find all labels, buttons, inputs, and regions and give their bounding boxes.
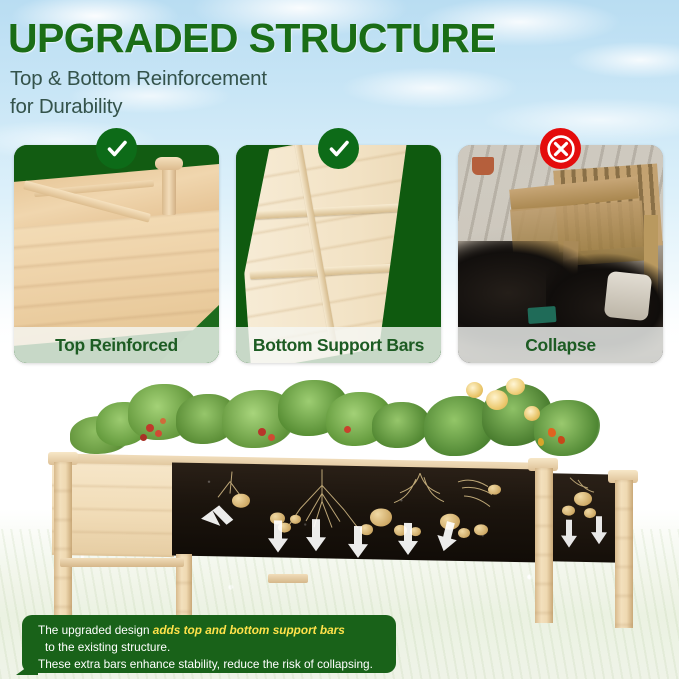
check-icon [96,128,137,169]
card-label-strip: Collapse [458,327,663,363]
subtitle-line-1: Top & Bottom Reinforcement [0,59,679,93]
banner-line-2: to the existing structure. [38,639,382,656]
check-icon [318,128,359,169]
planter-leg [535,468,553,623]
subtitle-line-2: for Durability [0,93,679,121]
card-label-text: Top Reinforced [55,335,178,356]
info-banner: The upgraded design adds top and bottom … [22,615,396,673]
cross-icon [540,128,581,169]
cross-brace [60,558,184,567]
cross-brace [268,574,308,583]
down-arrows-icon [172,462,542,562]
planter-leg [54,462,72,622]
soil-cross-section-right [550,473,622,562]
card-top-reinforced: Top Reinforced [14,145,219,363]
card-collapse: Collapse [458,145,663,363]
banner-line-1-highlight: adds top and bottom support bars [153,623,345,637]
planter-leg [615,480,633,628]
banner-line-1: The upgraded design adds top and bottom … [38,622,382,639]
soil-cross-section [172,462,542,562]
raised-garden-bed [52,442,630,622]
banner-line-1-prefix: The upgraded design [38,623,153,637]
card-label-strip: Top Reinforced [14,327,219,363]
banner-line-3: These extra bars enhance stability, redu… [38,656,382,673]
page-title: UPGRADED STRUCTURE [0,0,679,59]
header: UPGRADED STRUCTURE Top & Bottom Reinforc… [0,0,679,122]
card-label-strip: Bottom Support Bars [236,327,441,363]
card-label-text: Bottom Support Bars [253,335,424,356]
card-bottom-support-bars: Bottom Support Bars [236,145,441,363]
card-label-text: Collapse [525,335,596,356]
feature-card-row: Top Reinforced Bottom Support Bars [0,145,679,365]
